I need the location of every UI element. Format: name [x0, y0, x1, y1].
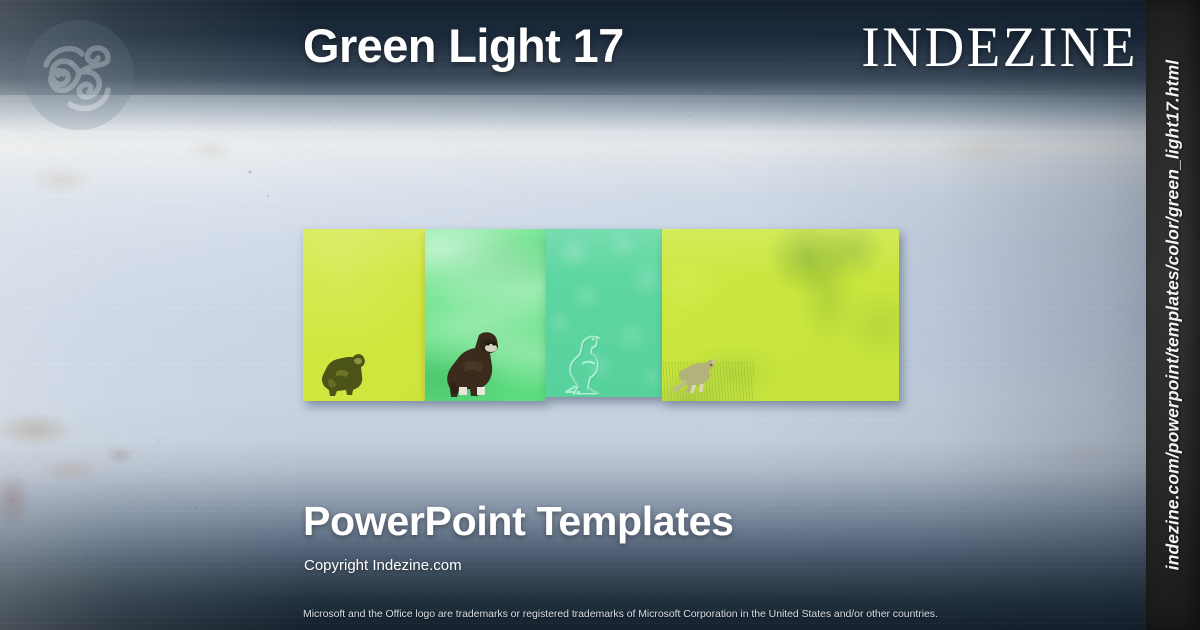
thumbnail-spring-green-gorilla[interactable]	[425, 229, 546, 401]
thumbnail-teal-kangaroo[interactable]	[546, 229, 662, 397]
kangaroo-embossed-outline-icon	[558, 330, 614, 396]
slide-canvas: Green Light 17 INDEZINE	[0, 0, 1200, 630]
url-text[interactable]: indezine.com/powerpoint/templates/color/…	[1163, 60, 1184, 570]
gorilla-photo-icon	[445, 329, 511, 399]
thumbnail-yellow-green-gorilla[interactable]	[303, 229, 425, 401]
page-subtitle: PowerPoint Templates	[303, 498, 734, 545]
trademark-disclaimer: Microsoft and the Office logo are tradem…	[303, 608, 938, 620]
wallaby-icon	[668, 357, 724, 395]
thumbnail-lime-wallaby[interactable]	[662, 229, 899, 401]
gorilla-silhouette-icon	[317, 345, 377, 397]
copyright-text: Copyright Indezine.com	[304, 557, 462, 574]
url-sidebar: indezine.com/powerpoint/templates/color/…	[1146, 0, 1200, 630]
